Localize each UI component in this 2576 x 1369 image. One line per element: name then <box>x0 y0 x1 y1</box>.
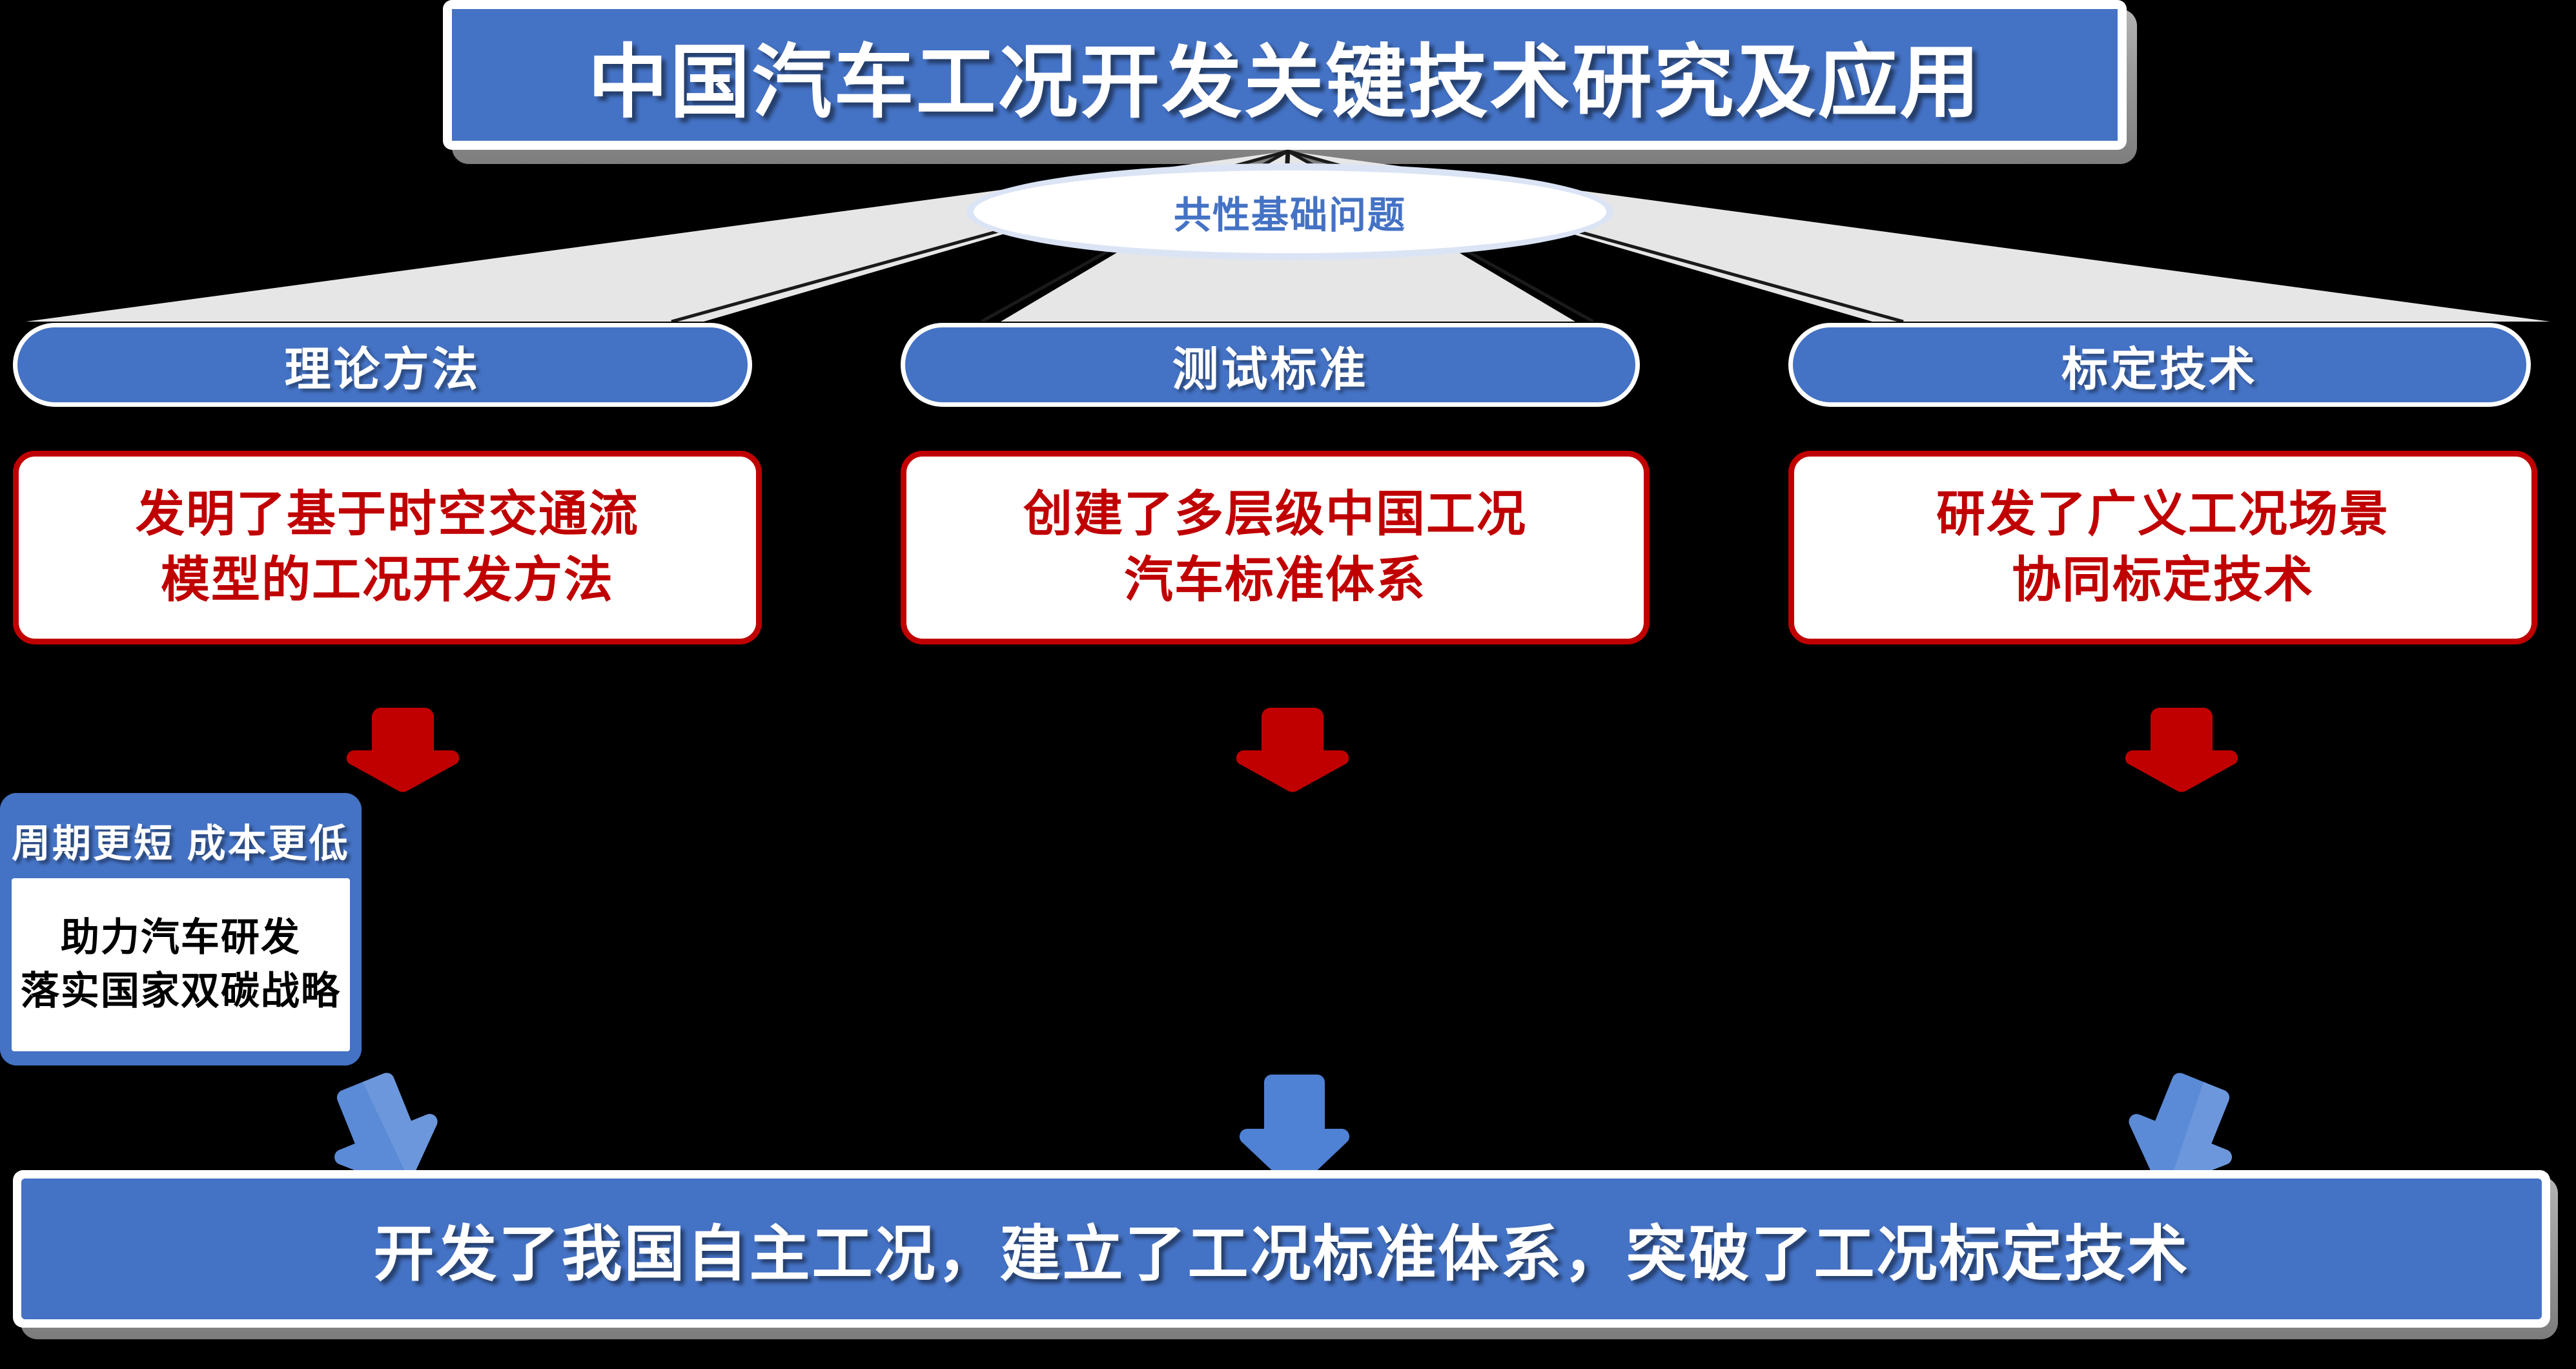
outcome-card-calibration: 周期更短 成本更低 助力汽车研发 落实国家双碳战略 <box>0 793 362 1065</box>
core-problem-ellipse: 共性基础问题 <box>974 170 1606 253</box>
title-inner-panel: 中国汽车工况开发关键技术研究及应用 <box>452 9 2118 141</box>
claim-line-1: 研发了广义工况场景 <box>1936 482 2389 548</box>
outcome-header: 周期更短 成本更低 <box>12 802 350 878</box>
core-problem-label: 共性基础问题 <box>1174 185 1406 239</box>
summary-banner-panel: 开发了我国自主工况，建立了工况标准体系，突破了工况标定技术 <box>21 1179 2542 1319</box>
claim-line-2: 协同标定技术 <box>2012 548 2314 613</box>
sidebar-item-test-standard[interactable]: 测试标准 <box>901 323 1640 407</box>
column-test-standard: 测试标准 创建了多层级中国工况 汽车标准体系 <box>901 323 1675 644</box>
outcome-line-2: 落实国家双碳战略 <box>21 965 341 1018</box>
page-title: 中国汽车工况开发关键技术研究及应用 <box>588 17 1981 133</box>
summary-banner-text: 开发了我国自主工况，建立了工况标准体系，突破了工况标定技术 <box>373 1205 2189 1293</box>
claim-card-theory: 发明了基于时空交通流 模型的工况开发方法 <box>13 451 762 644</box>
pill-label: 测试标准 <box>1172 331 1368 399</box>
claim-card-calibration: 研发了广义工况场景 协同标定技术 <box>1788 451 2537 644</box>
sidebar-item-calibration[interactable]: 标定技术 <box>1788 323 2531 407</box>
claim-line-1: 发明了基于时空交通流 <box>136 482 639 548</box>
pill-label: 理论方法 <box>284 331 480 399</box>
column-calibration: 标定技术 研发了广义工况场景 协同标定技术 <box>1788 323 2563 644</box>
claim-line-2: 模型的工况开发方法 <box>161 548 614 613</box>
red-down-arrow-icon <box>1225 704 1354 794</box>
outcome-header-label: 周期更短 成本更低 <box>12 812 350 869</box>
summary-banner-card: 开发了我国自主工况，建立了工况标准体系，突破了工况标定技术 <box>13 1170 2550 1328</box>
sidebar-item-theory[interactable]: 理论方法 <box>13 323 752 407</box>
claim-card-test-standard: 创建了多层级中国工况 汽车标准体系 <box>901 451 1650 644</box>
column-theory: 理论方法 发明了基于时空交通流 模型的工况开发方法 <box>13 323 788 644</box>
outcome-body: 助力汽车研发 落实国家双碳战略 <box>12 878 350 1051</box>
claim-line-1: 创建了多层级中国工况 <box>1023 482 1527 548</box>
claim-line-2: 汽车标准体系 <box>1124 548 1426 613</box>
pill-label: 标定技术 <box>2061 331 2258 399</box>
outcome-line-1: 助力汽车研发 <box>61 911 301 965</box>
red-down-arrow-icon <box>336 704 465 794</box>
red-down-arrow-icon <box>2114 704 2244 794</box>
title-card: 中国汽车工况开发关键技术研究及应用 <box>443 0 2127 150</box>
